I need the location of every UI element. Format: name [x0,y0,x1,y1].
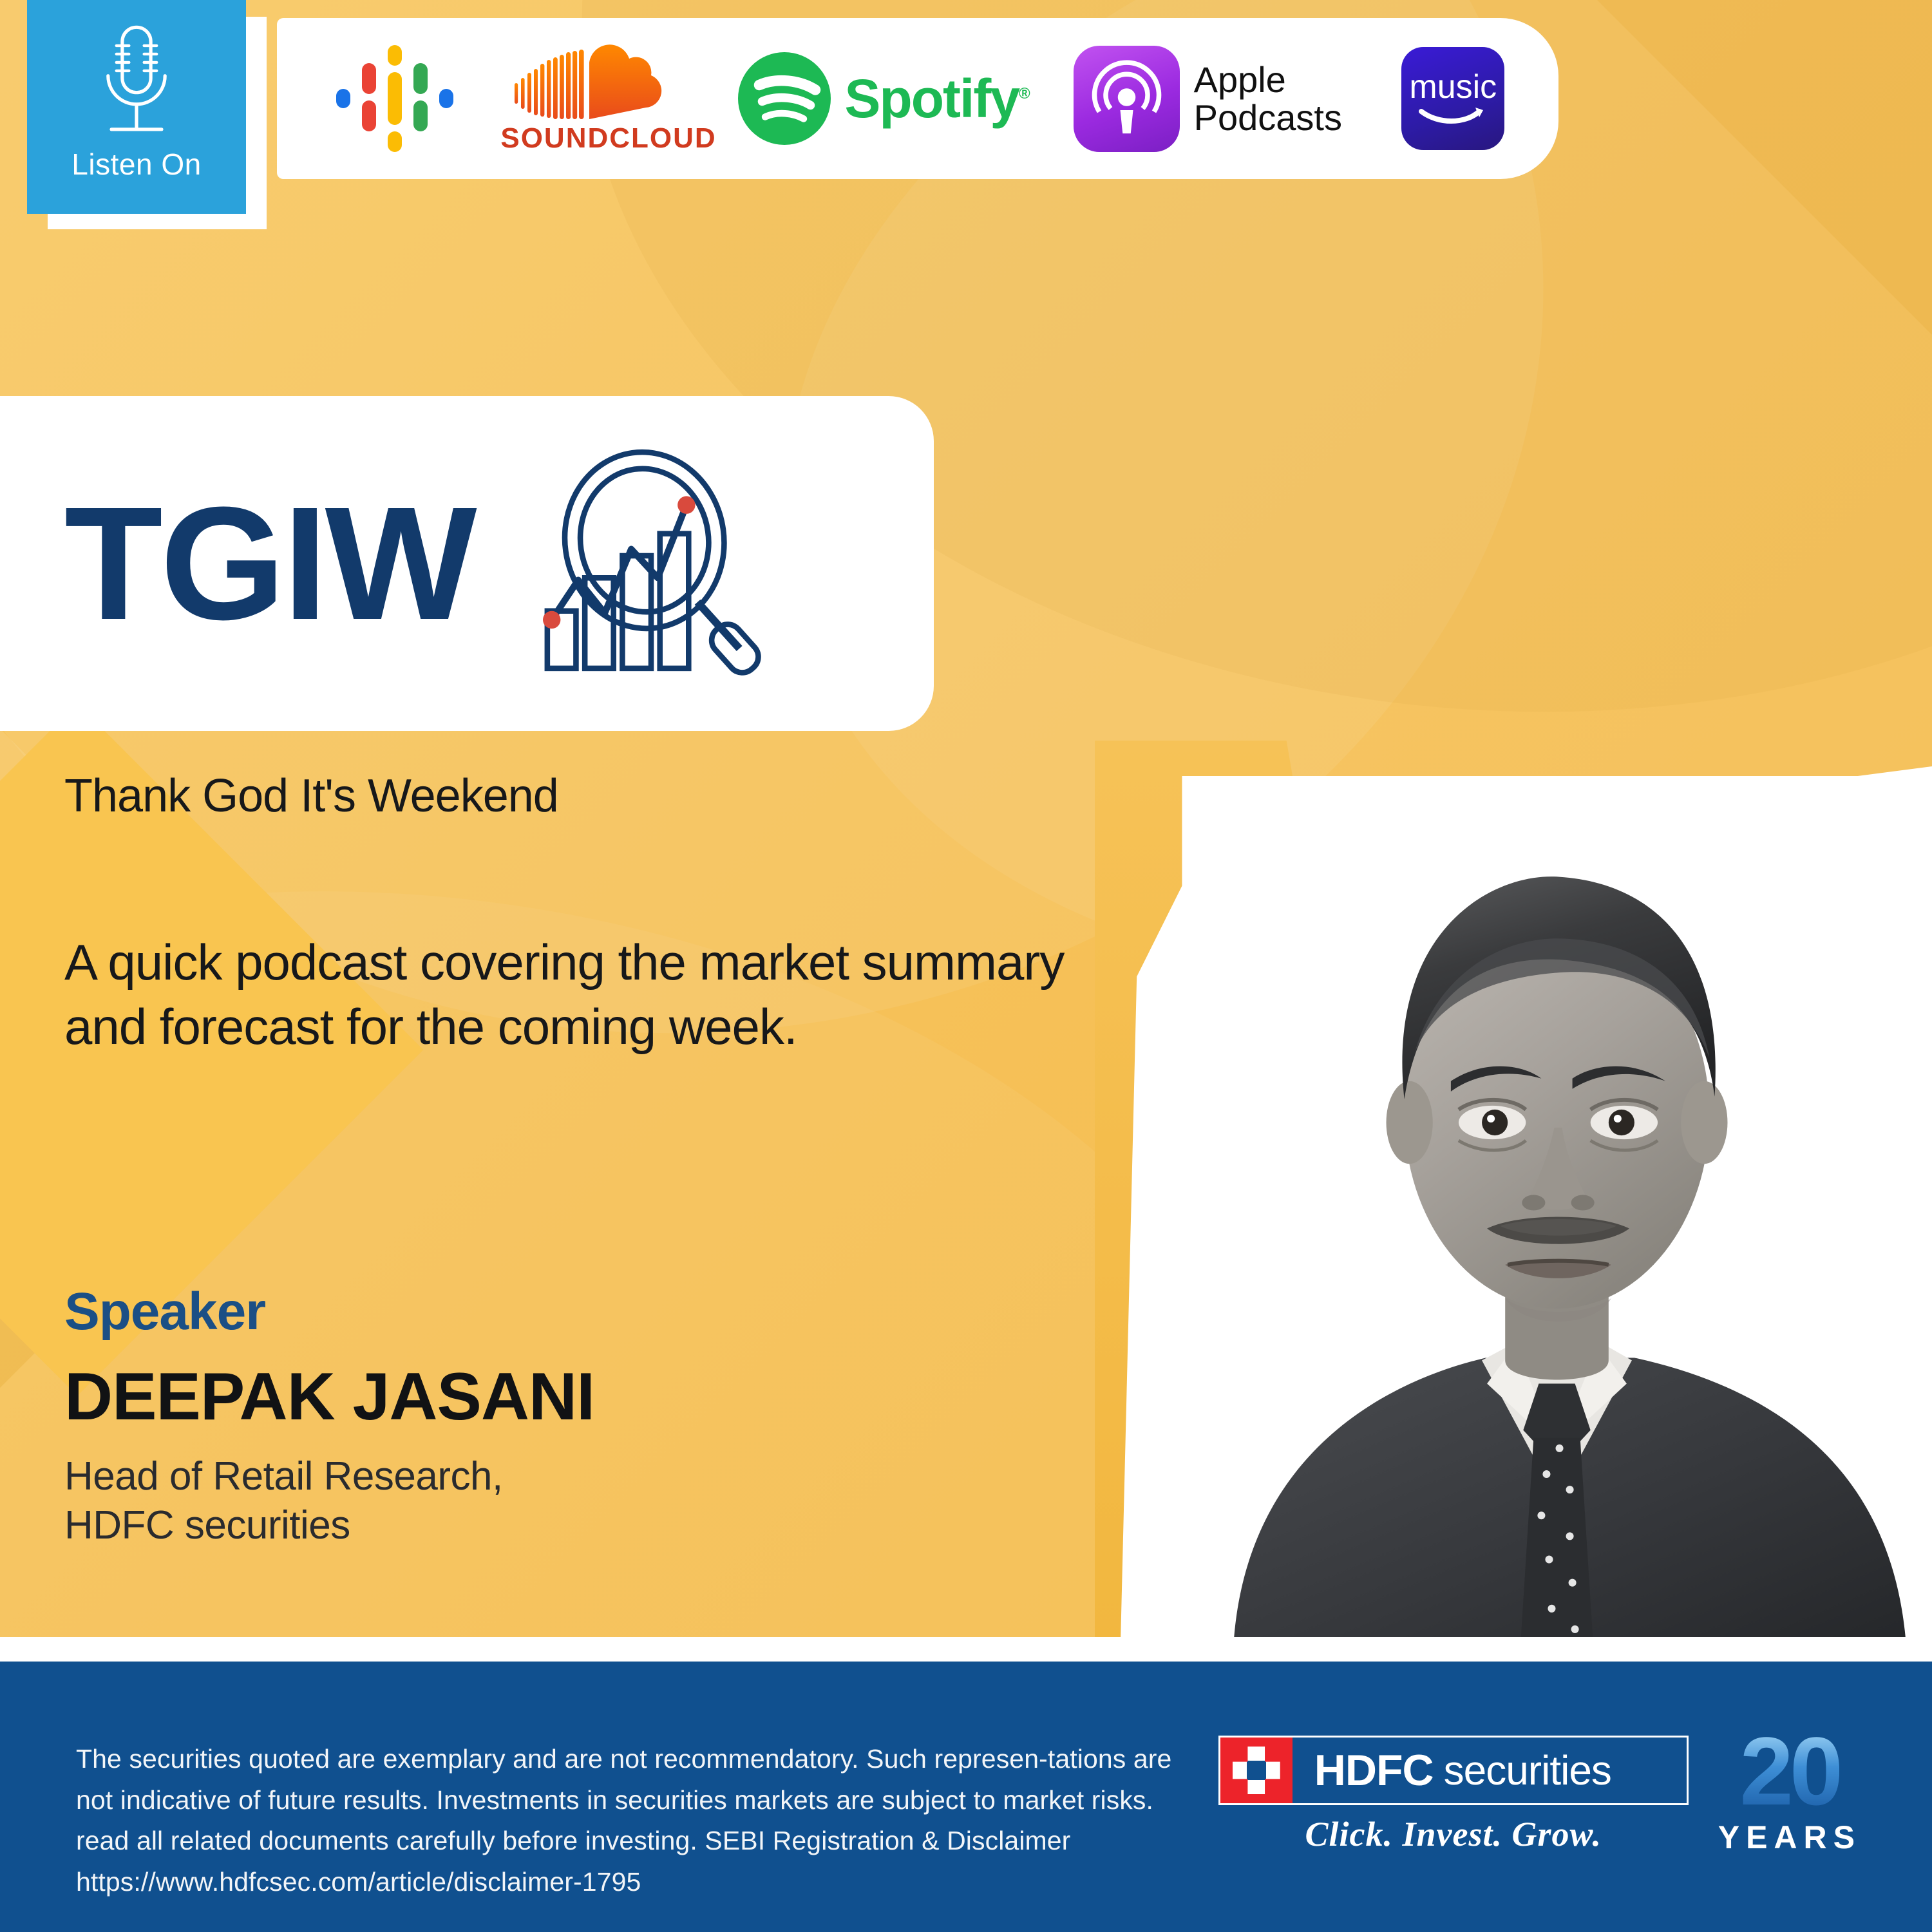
description-text: A quick podcast covering the market summ… [64,931,1146,1059]
podcast-promo-poster: Listen On [0,0,1932,1932]
google-podcasts-icon [334,44,462,153]
soundcloud-icon [512,44,705,122]
amazon-music-wordmark: music [1409,70,1497,104]
magnifier-bar-chart-icon [500,448,771,679]
hdfc-name-bold: HDFC [1314,1745,1434,1795]
hdfc-securities-brand: HDFC securities Click. Invest. Grow. 20 … [1218,1736,1861,1856]
microphone-icon [95,22,178,148]
hdfc-name: HDFC securities [1293,1738,1687,1803]
hdfc-square-icon [1220,1738,1293,1803]
platform-amazon-music[interactable]: music [1374,18,1533,179]
platform-apple-podcasts[interactable]: Apple Podcasts [1042,18,1374,179]
spotify-icon [736,50,833,147]
tgiw-title-card: TGIW [0,396,934,731]
tagline-text: Thank God It's Weekend [64,770,558,822]
speaker-role: Head of Retail Research, HDFC securities [64,1452,503,1549]
speaker-name: DEEPAK JASANI [64,1359,594,1435]
anniversary-number: 20 [1739,1728,1839,1815]
speaker-role-line1: Head of Retail Research, [64,1452,503,1501]
anniversary-badge: 20 YEARS [1718,1728,1861,1856]
speaker-label: Speaker [64,1282,265,1342]
apple-podcasts-icon [1074,46,1180,152]
hdfc-lockup: HDFC securities Click. Invest. Grow. [1218,1736,1689,1854]
background-triangle-topright [1597,0,1932,335]
spotify-wordmark: Spotify® [844,68,1028,130]
soundcloud-wordmark: SOUNDCLOUD [500,124,716,153]
listen-on-label: Listen On [71,149,201,179]
disclaimer-text: The securities quoted are exemplary and … [76,1739,1209,1902]
listen-on-badge[interactable]: Listen On [27,0,246,214]
speaker-role-line2: HDFC securities [64,1501,503,1550]
platform-spotify[interactable]: Spotify® [723,18,1042,179]
platform-google-podcasts[interactable] [303,18,494,179]
tgiw-wordmark: TGIW [64,483,475,644]
hdfc-tagline: Click. Invest. Grow. [1218,1814,1689,1854]
footer-divider [0,1637,1932,1662]
platform-links-bar: SOUNDCLOUD Spotify® [277,18,1558,179]
amazon-music-icon: music [1401,47,1504,150]
hdfc-logo-row: HDFC securities [1218,1736,1689,1805]
avatar [1182,776,1932,1642]
platform-soundcloud[interactable]: SOUNDCLOUD [494,18,723,179]
hdfc-name-light: securities [1444,1747,1611,1794]
amazon-smile-icon [1417,105,1488,127]
apple-podcasts-wordmark: Apple Podcasts [1194,61,1342,137]
